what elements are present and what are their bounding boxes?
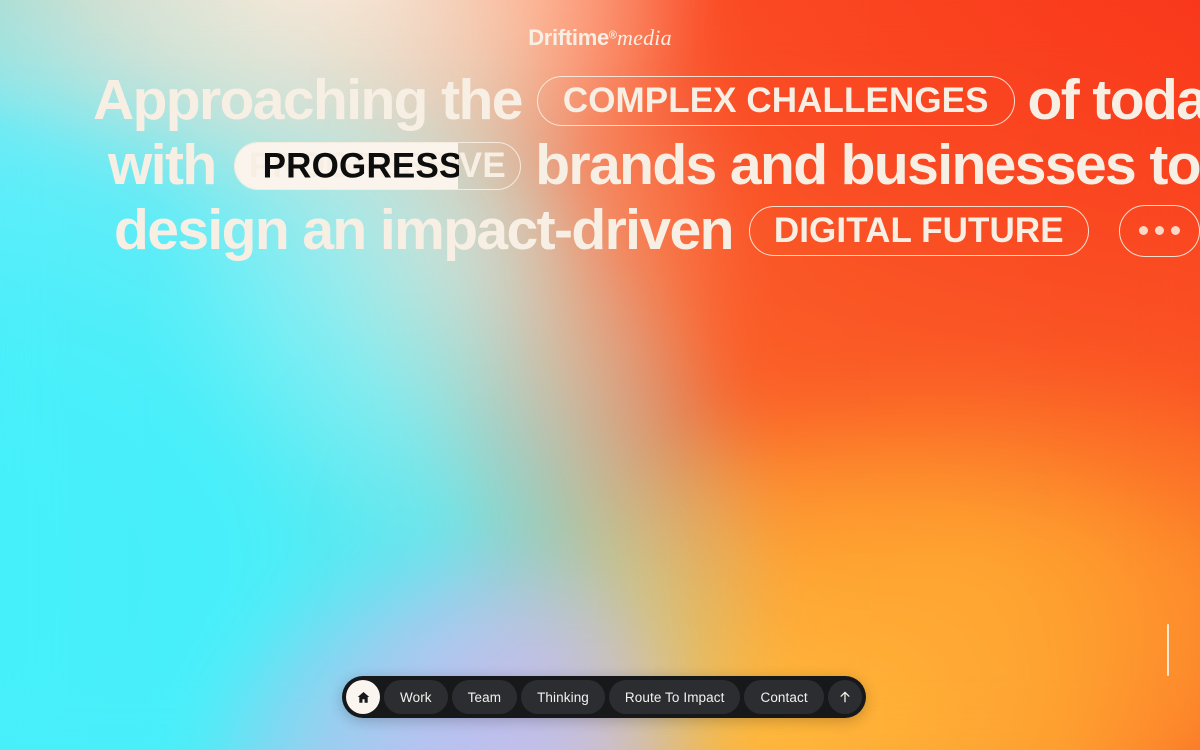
- ellipsis-dot-icon: [1171, 226, 1180, 235]
- ellipsis-dot-icon: [1155, 226, 1164, 235]
- site-logo[interactable]: Driftime®media: [0, 27, 1200, 49]
- nav-home-button[interactable]: [346, 680, 380, 714]
- nav-scroll-top-button[interactable]: [828, 680, 862, 714]
- nav-item-thinking[interactable]: Thinking: [521, 680, 605, 714]
- pill-progressive-filled-region: PROGRESSIVE: [235, 143, 459, 189]
- nav-item-contact[interactable]: Contact: [744, 680, 823, 714]
- headline-text-brands-businesses: brands and businesses to: [535, 133, 1200, 198]
- pill-complex-challenges[interactable]: COMPLEX CHALLENGES: [537, 76, 1015, 126]
- pill-complex-challenges-label: COMPLEX CHALLENGES: [563, 68, 989, 133]
- hero-headline: Approaching the COMPLEX CHALLENGES of to…: [0, 68, 1200, 263]
- headline-text-of-today: of today: [1028, 68, 1200, 133]
- pill-progressive[interactable]: PROGRESSIVE PROGRESSIVE: [234, 142, 522, 190]
- pill-progressive-label-inverted: PROGRESSIVE: [263, 143, 459, 189]
- nav-item-label: Route To Impact: [625, 690, 725, 705]
- headline-text-approaching: Approaching the: [93, 68, 522, 133]
- logo-registered-mark: ®: [609, 30, 617, 42]
- nav-item-label: Team: [468, 690, 501, 705]
- page-canvas: Driftime®media Approaching the COMPLEX C…: [0, 0, 1200, 750]
- logo-suffix: media: [617, 25, 672, 50]
- nav-item-label: Contact: [760, 690, 807, 705]
- headline-line-1: Approaching the COMPLEX CHALLENGES of to…: [0, 68, 1200, 133]
- nav-item-label: Work: [400, 690, 432, 705]
- scroll-progress-indicator[interactable]: [1167, 624, 1169, 676]
- nav-item-team[interactable]: Team: [452, 680, 517, 714]
- pill-more-options[interactable]: [1119, 205, 1200, 257]
- ellipsis-dot-icon: [1139, 226, 1148, 235]
- headline-text-with: with: [108, 133, 216, 198]
- bottom-navigation-bar: Work Team Thinking Route To Impact Conta…: [342, 676, 866, 718]
- nav-item-label: Thinking: [537, 690, 589, 705]
- headline-line-3: design an impact-driven DIGITAL FUTURE: [0, 198, 1200, 263]
- home-icon: [356, 690, 371, 705]
- pill-digital-future-label: DIGITAL FUTURE: [774, 198, 1064, 263]
- pill-digital-future[interactable]: DIGITAL FUTURE: [749, 206, 1089, 256]
- headline-line-2: with PROGRESSIVE PROGRESSIVE brands and …: [0, 133, 1200, 198]
- logo-wordmark: Driftime: [528, 25, 609, 50]
- nav-item-route-to-impact[interactable]: Route To Impact: [609, 680, 741, 714]
- headline-text-design-impact-driven: design an impact-driven: [114, 198, 733, 263]
- nav-item-work[interactable]: Work: [384, 680, 448, 714]
- arrow-up-icon: [837, 689, 853, 705]
